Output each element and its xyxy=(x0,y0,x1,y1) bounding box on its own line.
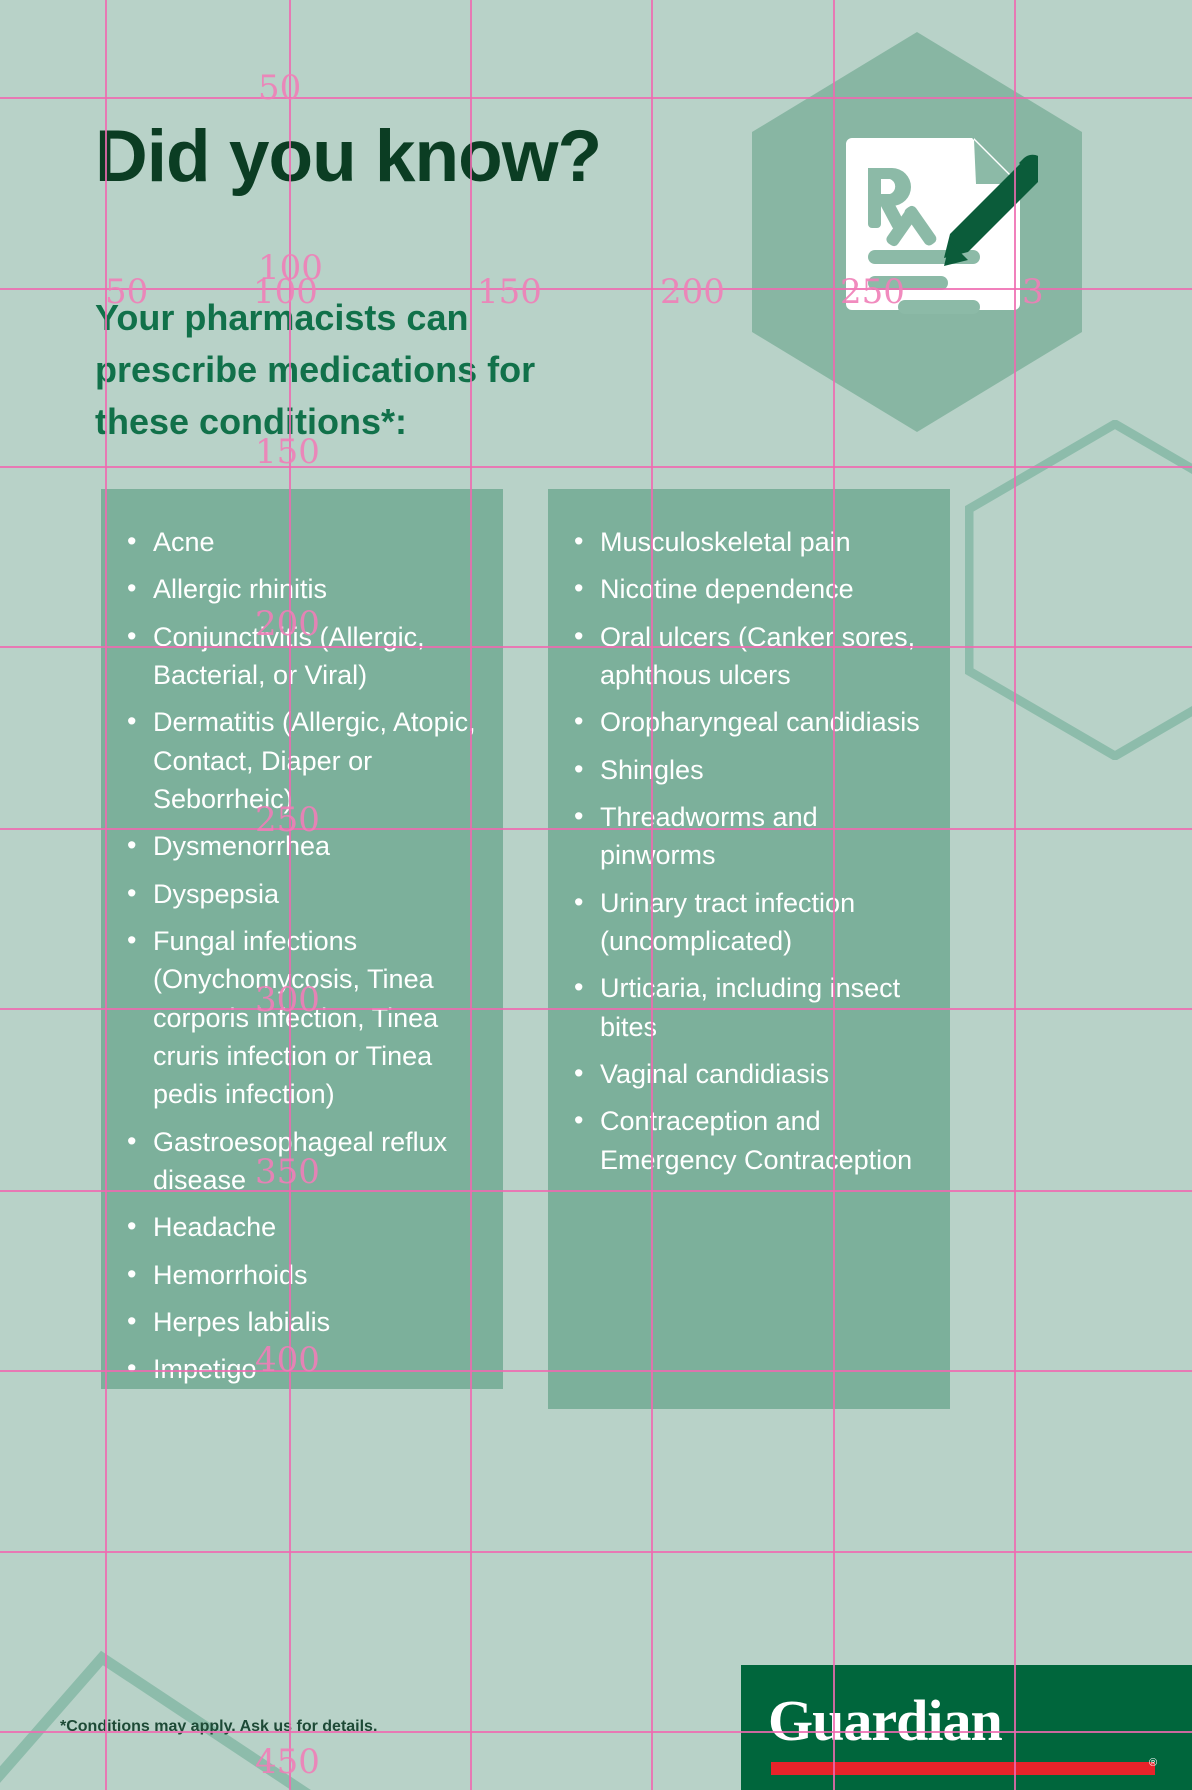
condition-list-item: Dyspepsia xyxy=(123,875,485,913)
condition-list-item: Impetigo xyxy=(123,1350,485,1388)
condition-list-item: Nicotine dependence xyxy=(570,570,932,608)
grid-label-y: 50 xyxy=(258,68,301,108)
conditions-panel-left: AcneAllergic rhinitisConjunctivitis (All… xyxy=(101,489,503,1389)
poster-canvas: Did you know? Your pharmacists can presc… xyxy=(0,0,1192,1790)
condition-list-item: Herpes labialis xyxy=(123,1303,485,1341)
conditions-list-left: AcneAllergic rhinitisConjunctivitis (All… xyxy=(101,489,503,1389)
condition-list-item: Gastroesophageal reflux disease xyxy=(123,1123,485,1200)
condition-list-item: Conjunctivitis (Allergic, Bacterial, or … xyxy=(123,618,485,695)
conditions-list-right: Musculoskeletal painNicotine dependenceO… xyxy=(548,489,950,1179)
footnote-text: *Conditions may apply. Ask us for detail… xyxy=(60,1718,377,1736)
condition-list-item: Oropharyngeal candidiasis xyxy=(570,703,932,741)
condition-list-item: Headache xyxy=(123,1208,485,1246)
guardian-logo: Guardian ® xyxy=(741,1665,1192,1790)
condition-list-item: Acne xyxy=(123,523,485,561)
condition-list-item: Musculoskeletal pain xyxy=(570,523,932,561)
page-subtitle: Your pharmacists can prescribe medicatio… xyxy=(95,292,615,449)
grid-label-y: 100 xyxy=(258,248,323,288)
condition-list-item: Shingles xyxy=(570,751,932,789)
condition-list-item: Urticaria, including insect bites xyxy=(570,969,932,1046)
rx-document-icon xyxy=(838,124,1038,324)
condition-list-item: Dysmenorrhea xyxy=(123,827,485,865)
condition-list-item: Dermatitis (Allergic, Atopic, Contact, D… xyxy=(123,703,485,818)
grid-line-horizontal xyxy=(0,1551,1192,1553)
condition-list-item: Vaginal candidiasis xyxy=(570,1055,932,1093)
guardian-red-rule xyxy=(771,1762,1155,1775)
conditions-panel-right: Musculoskeletal painNicotine dependenceO… xyxy=(548,489,950,1409)
condition-list-item: Hemorrhoids xyxy=(123,1256,485,1294)
registered-trademark-mark: ® xyxy=(1149,1757,1157,1769)
guardian-wordmark: Guardian xyxy=(768,1692,1002,1750)
condition-list-item: Threadworms and pinworms xyxy=(570,798,932,875)
page-title: Did you know? xyxy=(95,120,601,193)
condition-list-item: Contraception and Emergency Contraceptio… xyxy=(570,1102,932,1179)
condition-list-item: Urinary tract infection (uncomplicated) xyxy=(570,884,932,961)
hexagon-outline-shape xyxy=(965,420,1192,760)
condition-list-item: Oral ulcers (Canker sores, aphthous ulce… xyxy=(570,618,932,695)
chevron-shape xyxy=(0,1596,320,1790)
condition-list-item: Fungal infections (Onychomycosis, Tinea … xyxy=(123,922,485,1114)
condition-list-item: Allergic rhinitis xyxy=(123,570,485,608)
grid-label-x: 200 xyxy=(660,272,725,312)
